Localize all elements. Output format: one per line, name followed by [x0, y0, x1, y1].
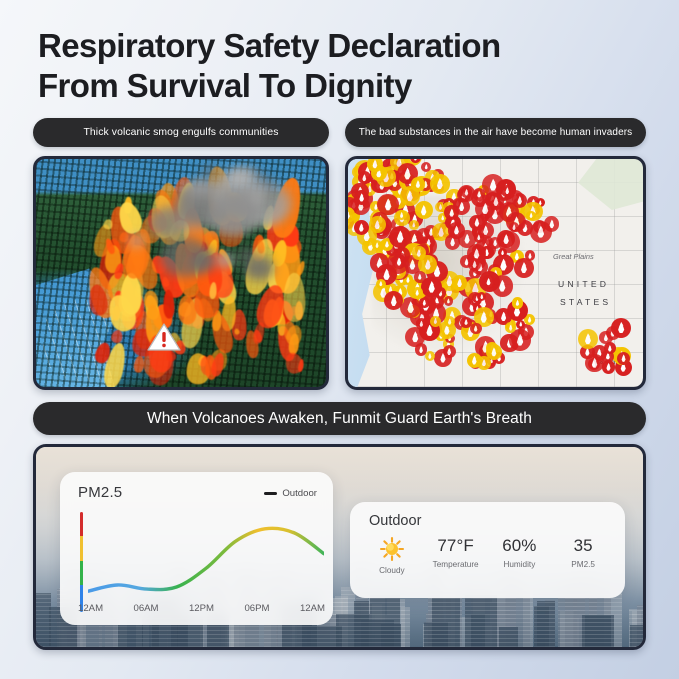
pm25-scale-axis-bar	[80, 512, 83, 612]
legend-dash-icon	[264, 492, 277, 495]
caption-pill-left: Thick volcanic smog engulfs communities	[33, 118, 329, 147]
dashboard-panel: PM2.5 Outdoor	[33, 444, 646, 650]
pm25-line-chart	[88, 508, 324, 612]
x-tick-2: 12PM	[189, 603, 214, 614]
pm25-chart-card: PM2.5 Outdoor	[60, 472, 333, 625]
tagline-pill: When Volcanoes Awaken, Funmit Guard Eart…	[33, 402, 646, 435]
outdoor-card-title: Outdoor	[369, 513, 421, 529]
page-title: Respiratory Safety Declaration From Surv…	[38, 26, 648, 107]
legend-label-outdoor: Outdoor	[282, 488, 317, 499]
wildfire-image-panel	[33, 156, 329, 390]
pm25-x-axis-ticks: 12AM 06AM 12PM 06PM 12AM	[78, 603, 325, 614]
sun-icon	[379, 536, 405, 562]
x-tick-0: 12AM	[78, 603, 103, 614]
outdoor-readings-row: Cloudy 77°F Temperature 60% Humidity 35 …	[360, 536, 615, 575]
x-tick-4: 12AM	[300, 603, 325, 614]
outdoor-caption-weather: Cloudy	[379, 566, 405, 575]
outdoor-reading-temperature: 77°F Temperature	[424, 536, 488, 575]
map-label-states: STATES	[560, 297, 611, 307]
x-tick-1: 06AM	[133, 603, 158, 614]
outdoor-readings-card: Outdoor Cloudy 77°F Temperature	[350, 502, 625, 598]
outdoor-value-humidity: 60%	[502, 536, 536, 556]
tagline-pill-label: When Volcanoes Awaken, Funmit Guard Eart…	[147, 410, 532, 428]
pm25-chart-title: PM2.5	[78, 484, 122, 501]
wildfire-image	[36, 159, 326, 387]
caption-pill-right-label: The bad substances in the air have becom…	[359, 127, 633, 138]
caption-pill-left-label: Thick volcanic smog engulfs communities	[83, 127, 278, 138]
x-tick-3: 06PM	[244, 603, 269, 614]
chart-legend: Outdoor	[264, 488, 317, 499]
outdoor-caption-pm25: PM2.5	[571, 560, 595, 569]
page-title-line-2: From Survival To Dignity	[38, 66, 648, 106]
page-title-line-1: Respiratory Safety Declaration	[38, 27, 501, 64]
outdoor-value-temperature: 77°F	[437, 536, 474, 556]
wildfire-map: Vancouver Great Plains UNITED STATES nci…	[348, 159, 643, 387]
warning-triangle-icon	[147, 322, 181, 352]
outdoor-caption-temperature: Temperature	[433, 560, 479, 569]
outdoor-reading-humidity: 60% Humidity	[488, 536, 552, 575]
caption-pill-right: The bad substances in the air have becom…	[345, 118, 646, 147]
map-label-united: UNITED	[558, 279, 609, 289]
outdoor-caption-humidity: Humidity	[503, 560, 535, 569]
pm25-plot-area	[88, 508, 324, 612]
outdoor-value-pm25: 35	[574, 536, 593, 556]
map-label-great-plains: Great Plains	[553, 252, 594, 261]
outdoor-reading-pm25: 35 PM2.5	[551, 536, 615, 575]
outdoor-reading-weather: Cloudy	[360, 536, 424, 575]
wildfire-map-panel: Vancouver Great Plains UNITED STATES nci…	[345, 156, 646, 390]
